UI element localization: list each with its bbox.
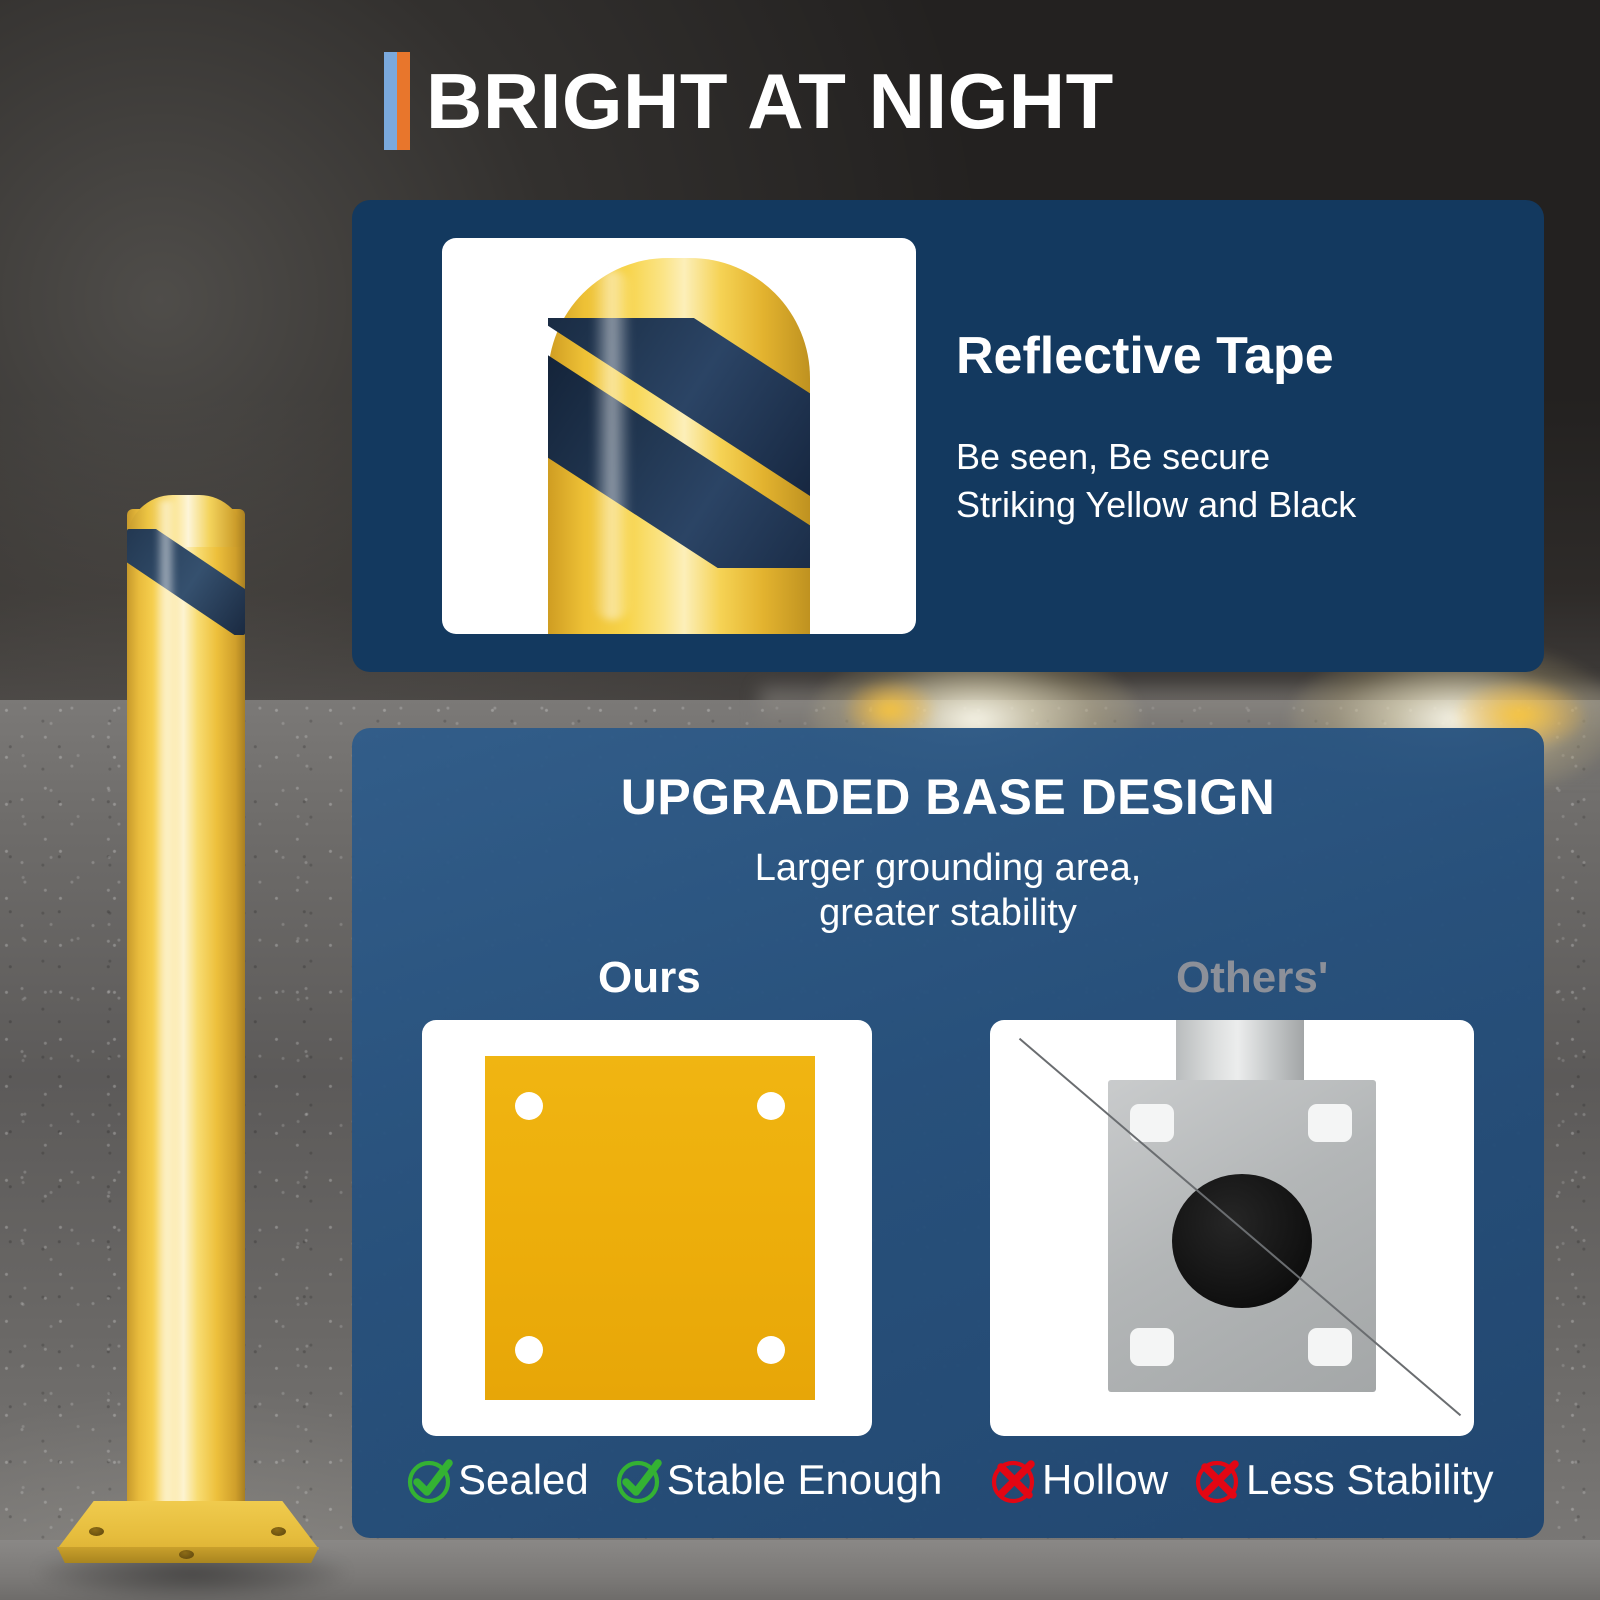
page-header: BRIGHT AT NIGHT (384, 52, 1114, 150)
base-design-sub-2: greater stability (352, 891, 1544, 936)
hollow-center-hole (1172, 1174, 1312, 1308)
reflective-tape-heading: Reflective Tape (956, 328, 1516, 385)
bollard-highlight (155, 501, 177, 1521)
bolt-hole-icon (1130, 1328, 1174, 1366)
column-label-others: Others' (1176, 956, 1328, 1000)
ours-base-plate-photo (422, 1020, 872, 1436)
product-bollard-image (95, 495, 365, 1585)
bolt-hole-icon (515, 1336, 543, 1364)
others-base-plate-photo (990, 1020, 1474, 1436)
base-design-sub-1: Larger grounding area, (352, 846, 1544, 891)
accent-bar-blue (384, 52, 397, 150)
reflective-tape-stripes (548, 318, 810, 568)
reflective-tape-card: Reflective Tape Be seen, Be secure Strik… (352, 200, 1544, 672)
bullet-label: Hollow (1042, 1459, 1168, 1501)
bolt-hole-icon (179, 1550, 194, 1559)
accent-bar-orange (397, 52, 410, 150)
competitor-post (1176, 1020, 1304, 1088)
check-circle-icon (404, 1454, 456, 1506)
page-title: BRIGHT AT NIGHT (426, 62, 1114, 140)
bolt-hole-icon (271, 1527, 286, 1536)
gray-hollow-plate (1108, 1080, 1376, 1392)
others-bullet-list: Hollow Less Stability (988, 1454, 1494, 1506)
bolt-hole-icon (1130, 1104, 1174, 1142)
reflective-tape-text: Reflective Tape Be seen, Be secure Strik… (956, 328, 1516, 529)
base-design-card: UPGRADED BASE DESIGN Larger grounding ar… (352, 728, 1544, 1538)
bolt-hole-icon (1308, 1328, 1352, 1366)
photo-highlight (592, 270, 632, 620)
bolt-hole-icon (515, 1092, 543, 1120)
cross-circle-icon (1192, 1454, 1244, 1506)
solid-yellow-plate (485, 1056, 815, 1400)
bollard-reflective-stripe (127, 529, 245, 635)
bullet-label: Sealed (458, 1459, 589, 1501)
bolt-hole-icon (1308, 1104, 1352, 1142)
bolt-hole-icon (89, 1527, 104, 1536)
bullet-less-stability: Less Stability (1192, 1454, 1493, 1506)
reflective-tape-sub-2: Striking Yellow and Black (956, 481, 1516, 529)
reflective-tape-sub-1: Be seen, Be secure (956, 433, 1516, 481)
bollard-base-plate (57, 1501, 319, 1587)
bullet-hollow: Hollow (988, 1454, 1168, 1506)
ours-bullet-list: Sealed Stable Enough (404, 1454, 942, 1506)
bolt-hole-icon (757, 1092, 785, 1120)
cross-circle-icon (988, 1454, 1040, 1506)
bullet-sealed: Sealed (404, 1454, 589, 1506)
base-design-header: UPGRADED BASE DESIGN Larger grounding ar… (352, 768, 1544, 936)
base-design-heading: UPGRADED BASE DESIGN (352, 768, 1544, 826)
column-label-ours: Ours (598, 956, 701, 1000)
bolt-hole-icon (757, 1336, 785, 1364)
bullet-label: Less Stability (1246, 1459, 1493, 1501)
bollard-shaft (127, 509, 245, 1519)
reflective-tape-photo (442, 238, 916, 634)
bullet-stable-enough: Stable Enough (613, 1454, 943, 1506)
bullet-label: Stable Enough (667, 1459, 943, 1501)
check-circle-icon (613, 1454, 665, 1506)
